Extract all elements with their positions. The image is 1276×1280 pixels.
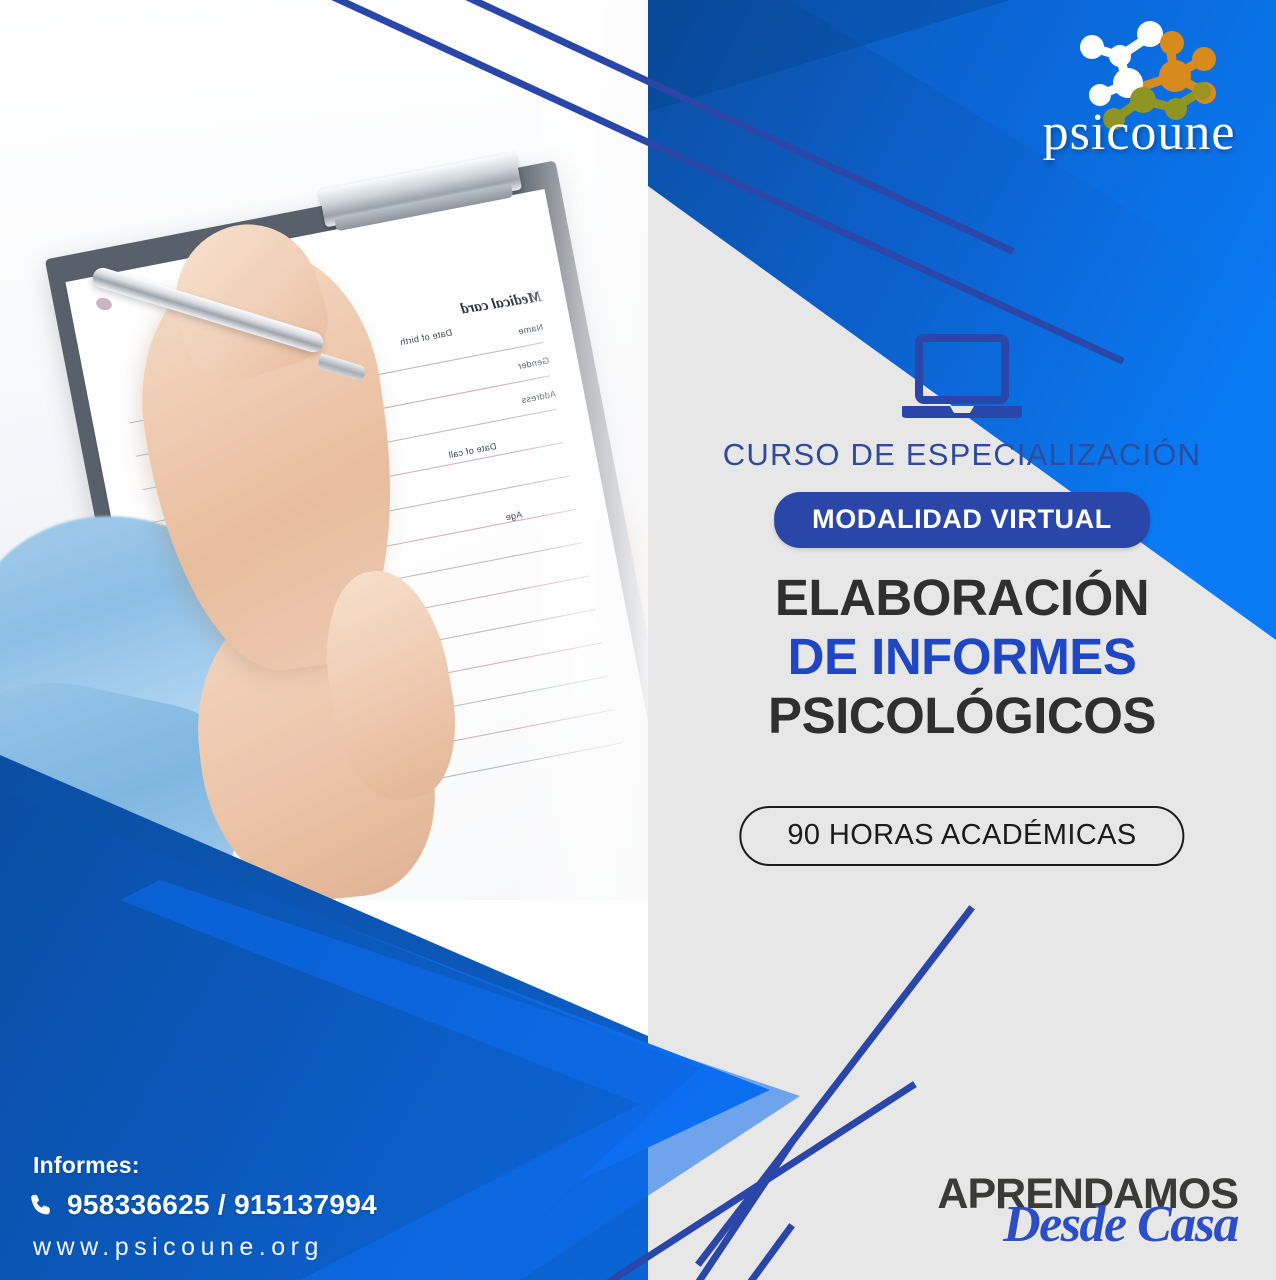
course-title: ELABORACIÓN DE INFORMES PSICOLÓGICOS (648, 568, 1276, 745)
academic-hours-badge: 90 HORAS ACADÉMICAS (739, 806, 1184, 866)
title-line-3: PSICOLÓGICOS (648, 686, 1276, 745)
phone-icon (28, 1192, 55, 1219)
logo-wordmark: psicoune (1024, 103, 1254, 162)
promotional-flyer: Medical card Name Date of birth Gender A… (0, 0, 1276, 1280)
phone-contact[interactable]: 958336625 / 915137994 (28, 1189, 377, 1221)
psicoune-logo[interactable]: psicoune (1024, 14, 1254, 166)
title-line-2: DE INFORMES (648, 627, 1276, 686)
course-eyebrow: CURSO DE ESPECIALIZACIÓN (648, 437, 1276, 473)
modality-badge: MODALIDAD VIRTUAL (774, 492, 1150, 548)
phone-numbers: 958336625 / 915137994 (67, 1189, 377, 1221)
website-url[interactable]: www.psicoune.org (33, 1233, 324, 1262)
laptop-icon (902, 334, 1022, 427)
slogan: APRENDAMOS Desde Casa (937, 1175, 1238, 1248)
title-line-1: ELABORACIÓN (648, 568, 1276, 627)
informes-label: Informes: (33, 1152, 140, 1179)
